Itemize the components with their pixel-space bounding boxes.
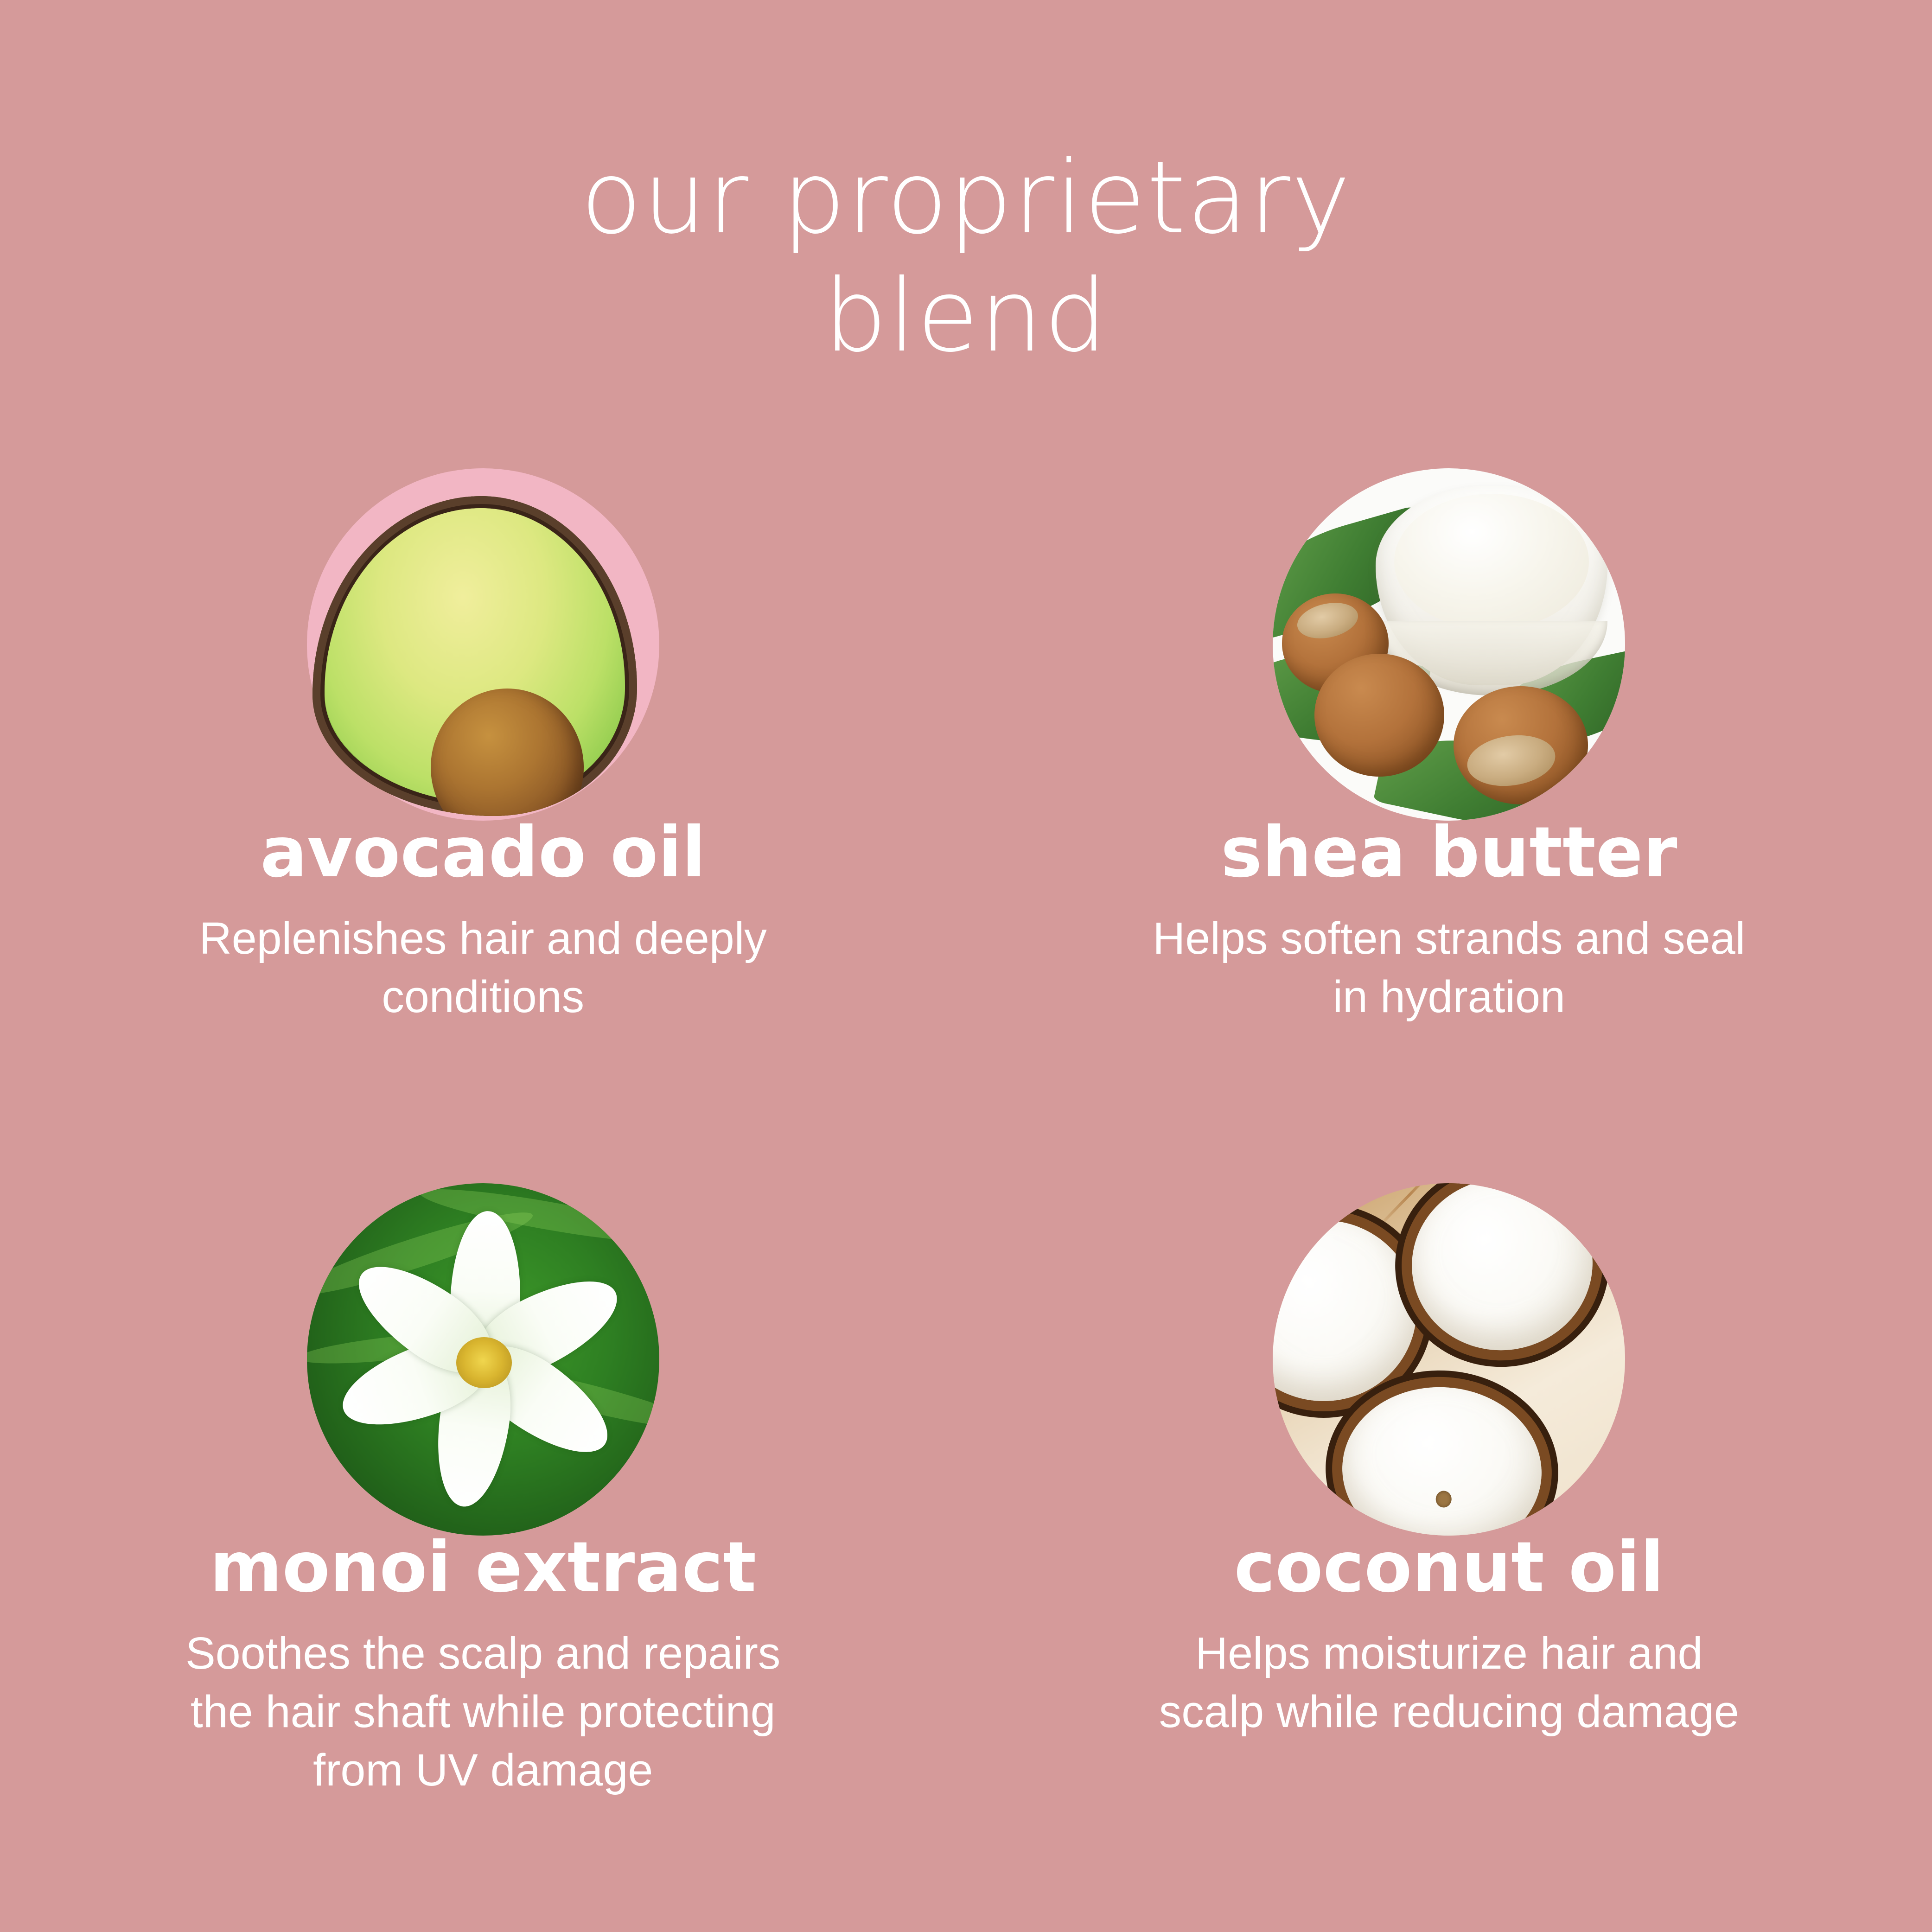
- coconut-photo-circle: [1273, 1183, 1625, 1536]
- title-line-1: our proprietary: [0, 139, 1932, 257]
- ingredient-grid: avocado oil Replenishes hair and deeply …: [0, 445, 1932, 1882]
- ingredient-card-monoi-extract: monoi extract Soothes the scalp and repa…: [0, 1160, 966, 1882]
- ingredient-poster: our proprietary blend avocado oil Replen…: [0, 0, 1932, 1932]
- shea-nut-icon: [1314, 654, 1444, 777]
- nut-kernel-icon: [1294, 597, 1362, 643]
- ingredient-description-shea-butter: Helps soften strands and seal in hydrati…: [1141, 909, 1757, 1026]
- shea-nut-icon: [1454, 686, 1588, 804]
- ingredient-description-monoi-extract: Soothes the scalp and repairs the hair s…: [175, 1624, 791, 1799]
- page-title: our proprietary blend: [0, 139, 1932, 376]
- coconut-half-icon: [1337, 1380, 1547, 1536]
- ingredient-card-shea-butter: shea butter Helps soften strands and sea…: [966, 445, 1932, 1109]
- ingredient-description-avocado-oil: Replenishes hair and deeply conditions: [175, 909, 791, 1026]
- coconut-oil-image: [1259, 1160, 1639, 1531]
- ingredient-title-avocado-oil: avocado oil: [260, 816, 706, 890]
- coconut-eye-icon: [1435, 1490, 1452, 1508]
- shea-photo-circle: [1273, 468, 1625, 821]
- flower-stamen-icon: [456, 1337, 512, 1388]
- title-line-2: blend: [0, 257, 1932, 376]
- avocado-oil-image: [293, 445, 673, 816]
- coconut-half-icon: [1273, 1220, 1416, 1401]
- ingredient-description-coconut-oil: Helps moisturize hair and scalp while re…: [1141, 1624, 1757, 1741]
- shea-butter-image: [1259, 445, 1639, 816]
- ingredient-title-monoi-extract: monoi extract: [210, 1531, 756, 1605]
- monoi-extract-image: [293, 1160, 673, 1531]
- nut-kernel-icon: [1464, 730, 1559, 791]
- ingredient-title-coconut-oil: coconut oil: [1234, 1531, 1664, 1605]
- ingredient-card-coconut-oil: coconut oil Helps moisturize hair and sc…: [966, 1160, 1932, 1882]
- monoi-photo-circle: [307, 1183, 659, 1536]
- ingredient-title-shea-butter: shea butter: [1221, 816, 1677, 890]
- avocado-pit-icon: [431, 689, 584, 816]
- coconut-half-icon: [1401, 1183, 1604, 1362]
- ingredient-card-avocado-oil: avocado oil Replenishes hair and deeply …: [0, 445, 966, 1109]
